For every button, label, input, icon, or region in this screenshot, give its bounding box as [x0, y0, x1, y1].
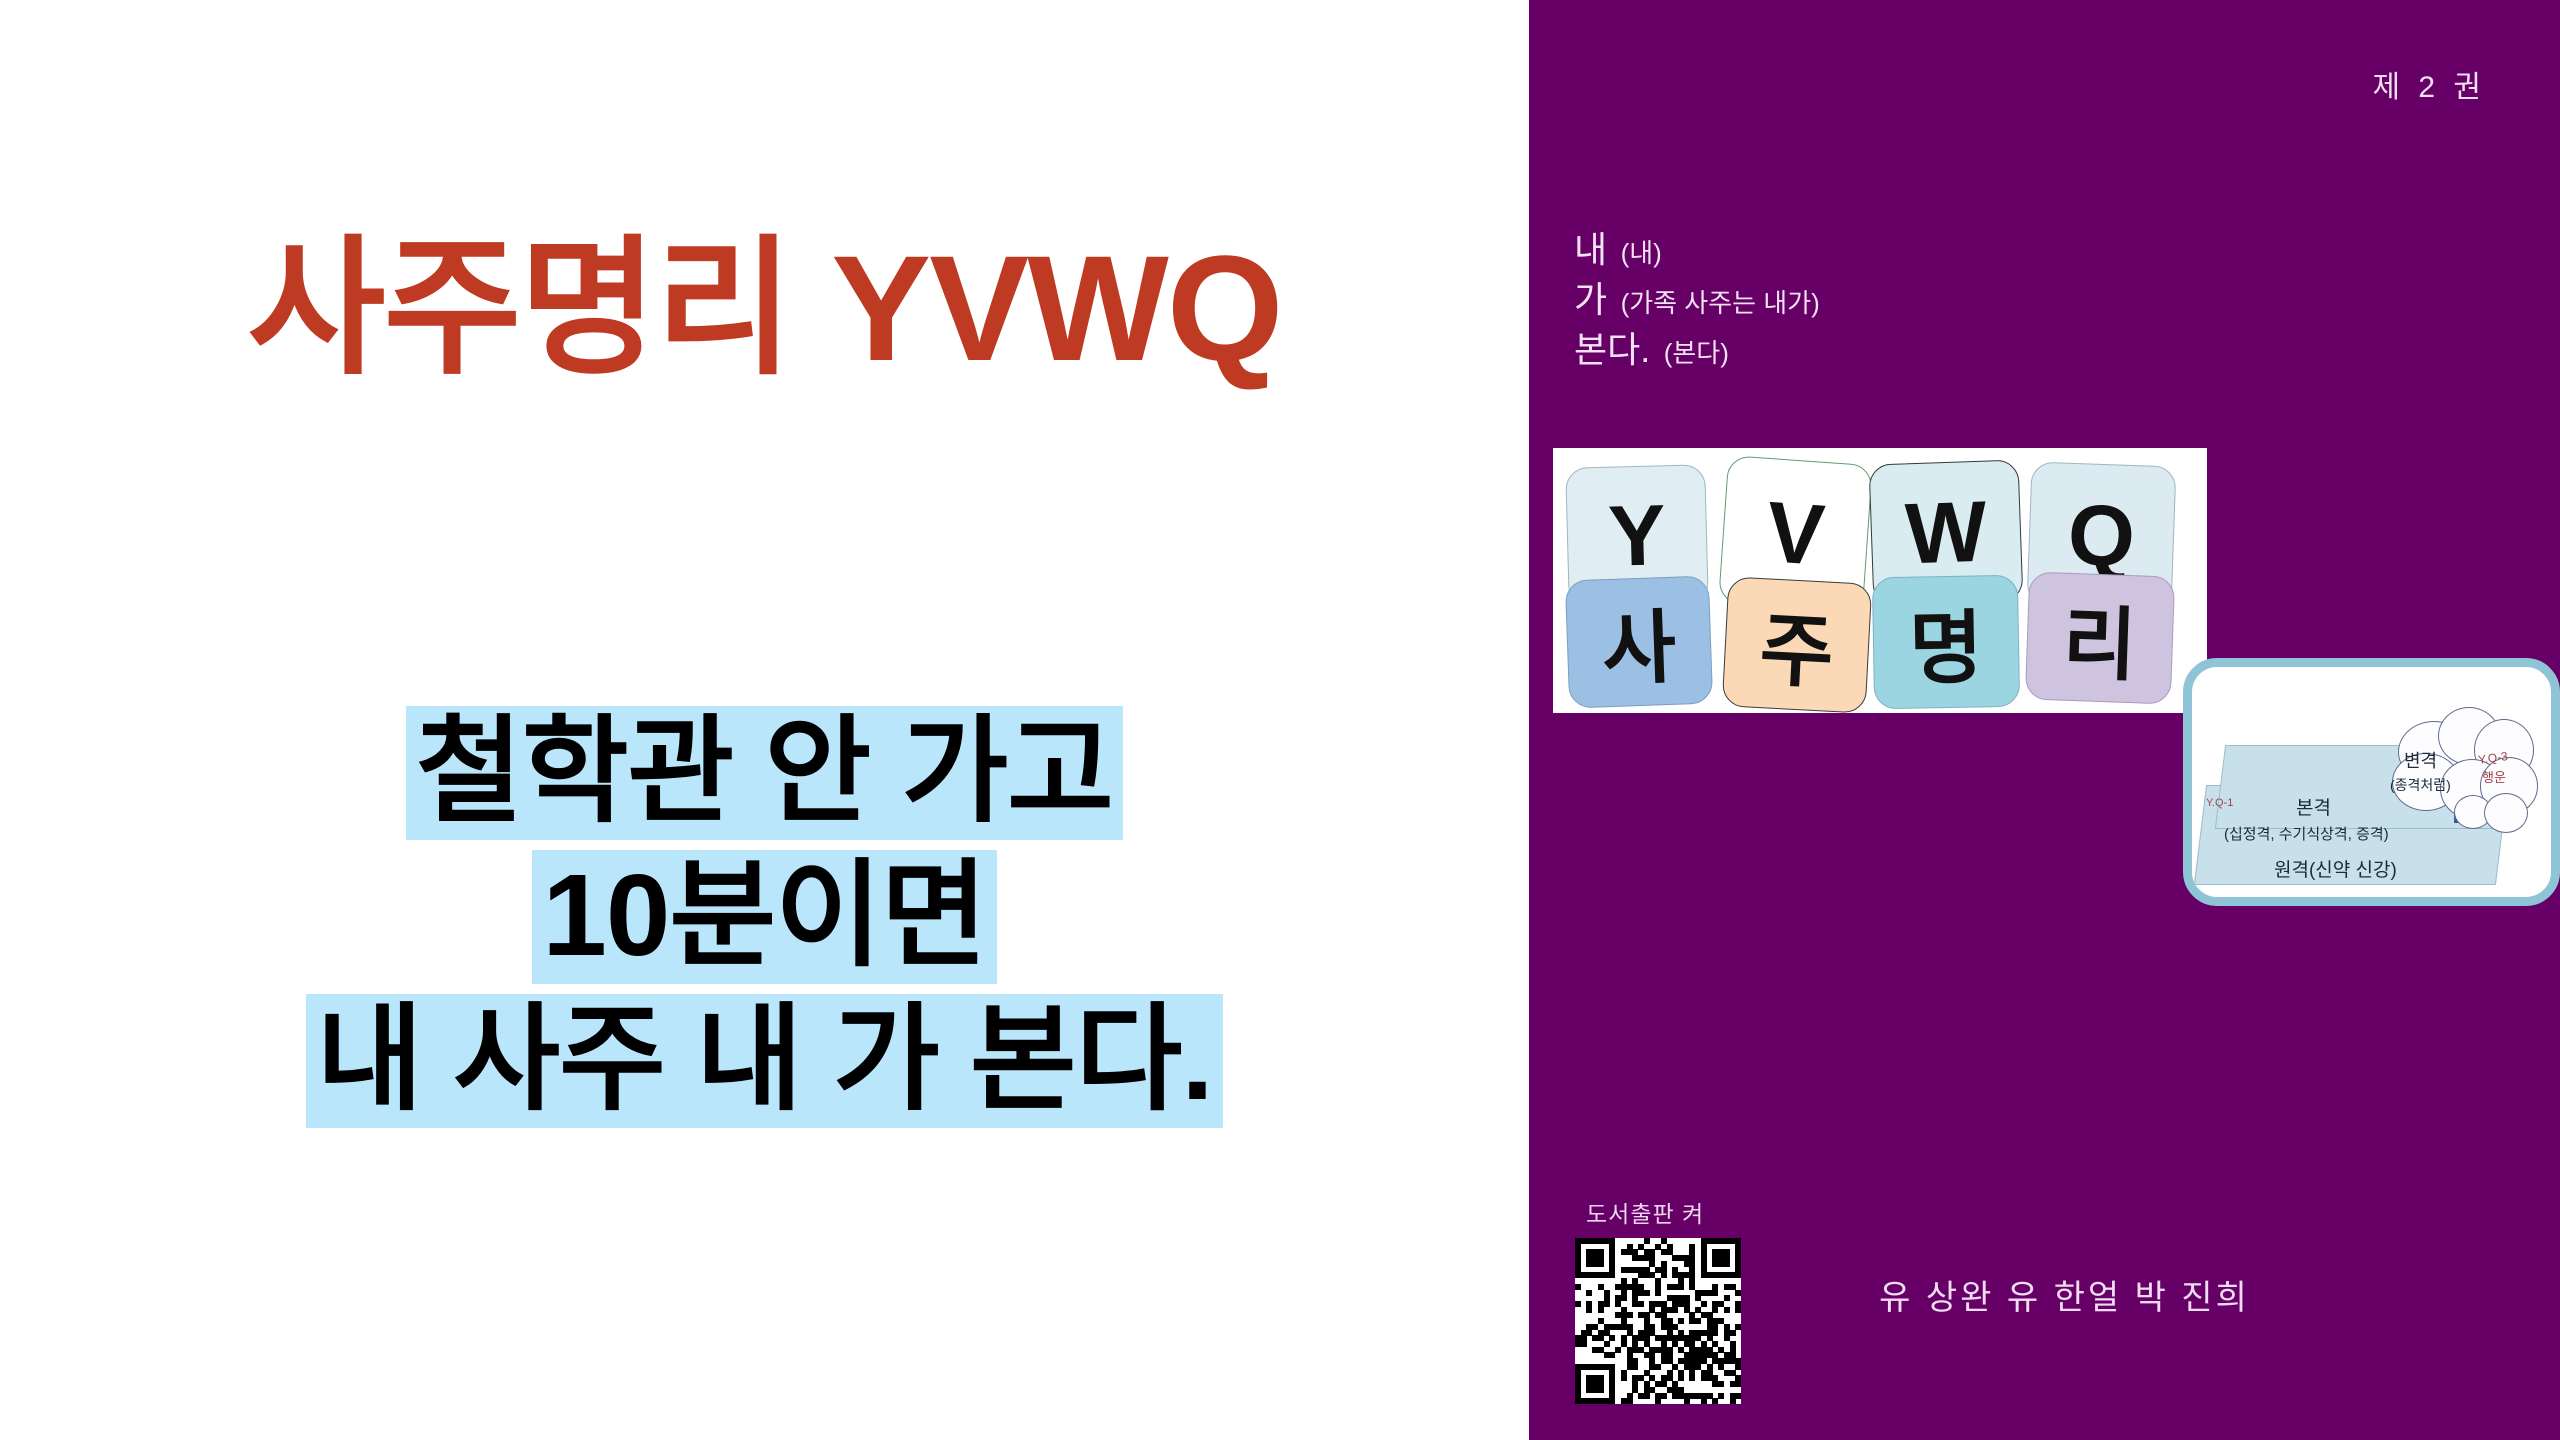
tagline-line-2: 10분이면	[0, 844, 1529, 988]
left-white-panel: 사주명리 YVWQ 철학관 안 가고 10분이면 내 사주 내 가 본다.	[0, 0, 1529, 1440]
phrase-row-3: 본다. (본다)	[1574, 332, 1820, 368]
qr-module	[1661, 1393, 1667, 1399]
diagram-label-base: 원격(신약 신강)	[2274, 855, 2397, 882]
qr-module	[1609, 1398, 1615, 1404]
diagram-label-yq3-sub: 행운	[2482, 767, 2506, 786]
phrase-row-1: 내 (내)	[1574, 232, 1820, 268]
qr-module	[1689, 1375, 1695, 1381]
qr-module	[1627, 1398, 1633, 1404]
tile-v-label: V	[1763, 483, 1827, 586]
qr-module	[1581, 1341, 1587, 1347]
qr-code	[1575, 1238, 1741, 1404]
tile-sa-label: 사	[1600, 583, 1678, 701]
diagram-label-yq1: Y.Q-1	[2206, 797, 2233, 809]
tile-myeong: 명	[1872, 575, 2020, 710]
tagline-text-3: 내 사주 내 가 본다.	[306, 994, 1222, 1128]
qr-module	[1598, 1261, 1604, 1267]
tagline-line-1: 철학관 안 가고	[0, 700, 1529, 844]
book-cover-page: 사주명리 YVWQ 철학관 안 가고 10분이면 내 사주 내 가 본다. 제 …	[0, 0, 2560, 1440]
tile-ri: 리	[2025, 571, 2175, 704]
tagline-block: 철학관 안 가고 10분이면 내 사주 내 가 본다.	[0, 700, 1529, 1131]
diagram-label-cloud: 변격	[2404, 747, 2437, 773]
qr-module	[1735, 1364, 1741, 1370]
phrase-word-2: 가	[1574, 279, 1607, 320]
phrase-gloss-3: (본다)	[1664, 338, 1729, 368]
tile-sa: 사	[1565, 576, 1713, 709]
qr-module	[1712, 1330, 1718, 1336]
tile-q-label: Q	[2066, 485, 2136, 586]
tile-ju-label: 주	[1757, 585, 1837, 705]
tagline-line-3: 내 사주 내 가 본다.	[0, 988, 1529, 1132]
qr-module	[1735, 1324, 1741, 1330]
right-purple-panel: 제 2 권 내 (내) 가 (가족 사주는 내가) 본다. (본다) Y V	[1529, 0, 2560, 1440]
volume-label: 제 2 권	[2372, 62, 2486, 106]
tile-y-label: Y	[1607, 486, 1667, 586]
qr-module	[1701, 1398, 1707, 1404]
qr-module	[1644, 1393, 1650, 1399]
qr-module	[1730, 1330, 1736, 1336]
qr-module	[1621, 1375, 1627, 1381]
phrase-row-2: 가 (가족 사주는 내가)	[1574, 282, 1820, 318]
diagram-card: Y.Q-1 본격 (십정격, 수기식상격, 증격) 변격 (종격처럼) Y.Q-…	[2183, 658, 2560, 906]
diagram-label-main: 본격	[2296, 793, 2331, 820]
qr-module	[1644, 1238, 1650, 1244]
tile-ju: 주	[1722, 576, 1873, 713]
qr-module	[1655, 1364, 1661, 1370]
qr-module	[1712, 1398, 1718, 1404]
qr-module	[1735, 1393, 1741, 1399]
tile-w-label: W	[1904, 482, 1989, 584]
qr-module	[1678, 1318, 1684, 1324]
qr-module	[1718, 1393, 1724, 1399]
qr-module	[1615, 1347, 1621, 1353]
diagram-label-cloud-sub: (종격처럼)	[2390, 775, 2451, 795]
qr-module	[1718, 1381, 1724, 1387]
phrase-block: 내 (내) 가 (가족 사주는 내가) 본다. (본다)	[1574, 232, 1820, 382]
tagline-text-1: 철학관 안 가고	[406, 706, 1123, 840]
phrase-gloss-2: (가족 사주는 내가)	[1621, 288, 1820, 318]
diagram-label-main-sub: (십정격, 수기식상격, 증격)	[2224, 823, 2389, 844]
phrase-word-3: 본다.	[1574, 329, 1650, 370]
qr-module	[1632, 1364, 1638, 1370]
qr-module	[1730, 1398, 1736, 1404]
tile-myeong-label: 명	[1908, 583, 1984, 700]
phrase-gloss-1: (내)	[1621, 238, 1662, 268]
qr-module	[1598, 1387, 1604, 1393]
qr-module	[1684, 1398, 1690, 1404]
qr-module	[1695, 1318, 1701, 1324]
qr-module	[1735, 1381, 1741, 1387]
qr-module	[1678, 1375, 1684, 1381]
phrase-word-1: 내	[1574, 229, 1607, 270]
qr-module	[1655, 1398, 1661, 1404]
qr-module	[1609, 1335, 1615, 1341]
tile-ri-label: 리	[2061, 579, 2139, 697]
authors-label: 유 상완 유 한얼 박 진희	[1529, 1270, 2560, 1319]
diagram-cloud-h	[2484, 793, 2528, 833]
page-title: 사주명리 YVWQ	[0, 224, 1529, 392]
qr-module	[1724, 1261, 1730, 1267]
qr-module	[1604, 1341, 1610, 1347]
letter-tiles-artwork: Y V W Q 사 주 명 리	[1553, 448, 2207, 713]
tagline-text-2: 10분이면	[532, 850, 996, 984]
publisher-label: 도서출판 켜	[1586, 1195, 1704, 1229]
qr-module	[1609, 1352, 1615, 1358]
